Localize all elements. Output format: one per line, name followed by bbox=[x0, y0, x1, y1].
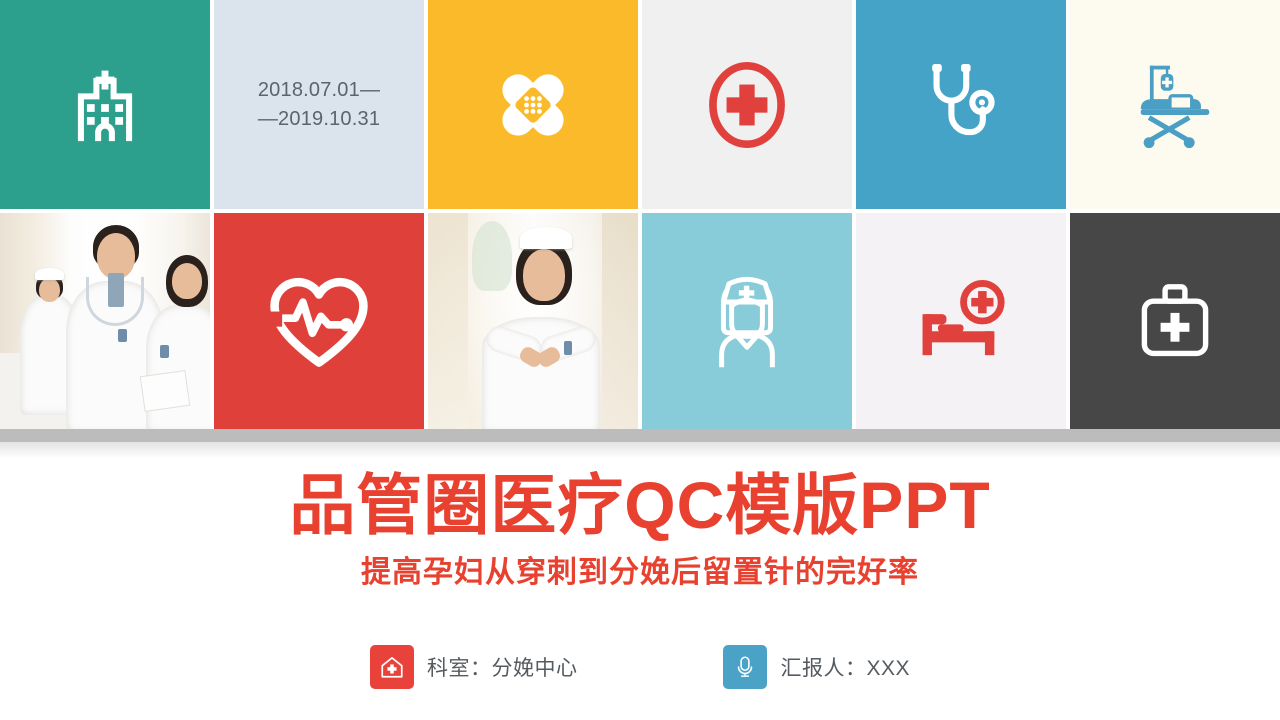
tile-hospital-building[interactable] bbox=[0, 0, 210, 209]
stethoscope-icon bbox=[917, 57, 1005, 153]
meta-department[interactable]: 科室：分娩中心 bbox=[370, 645, 578, 689]
department-label: 科室：分娩中心 bbox=[427, 652, 578, 682]
mosaic-shadow-bar bbox=[0, 429, 1280, 442]
tile-medical-kit[interactable] bbox=[1070, 213, 1280, 429]
meta-row: 科室：分娩中心 汇报人：XXX bbox=[0, 645, 1280, 689]
tile-row-1: 2018.07.01— —2019.10.31 bbox=[0, 0, 1280, 209]
doctors-photo-image bbox=[0, 213, 210, 429]
red-cross-circle-icon bbox=[704, 59, 790, 151]
presenter-label: 汇报人：XXX bbox=[780, 652, 910, 682]
tile-red-cross-circle[interactable] bbox=[642, 0, 852, 209]
tile-doctors-photo[interactable] bbox=[0, 213, 210, 429]
date-range-text: 2018.07.01— —2019.10.31 bbox=[258, 76, 380, 134]
hospital-gurney-icon bbox=[1129, 59, 1221, 151]
title-block: 品管圈医疗QC模版PPT 提高孕妇从穿刺到分娩后留置针的完好率 bbox=[0, 470, 1280, 591]
nurse-avatar-icon bbox=[701, 273, 793, 369]
tile-date-range[interactable]: 2018.07.01— —2019.10.31 bbox=[214, 0, 424, 209]
page-subtitle: 提高孕妇从穿刺到分娩后留置针的完好率 bbox=[0, 555, 1280, 591]
mosaic-shadow-fade bbox=[0, 442, 1280, 458]
tile-row-2 bbox=[0, 213, 1280, 429]
hospital-bed-icon bbox=[914, 278, 1008, 364]
bandage-icon bbox=[487, 59, 579, 151]
tile-hospital-bed[interactable] bbox=[856, 213, 1066, 429]
page-title: 品管圈医疗QC模版PPT bbox=[0, 470, 1280, 541]
hospital-icon bbox=[62, 62, 148, 148]
microphone-icon bbox=[723, 645, 767, 689]
medical-kit-icon bbox=[1130, 276, 1220, 366]
meta-presenter[interactable]: 汇报人：XXX bbox=[723, 645, 910, 689]
tile-bandage[interactable] bbox=[428, 0, 638, 209]
nurse-photo-image bbox=[428, 213, 638, 429]
tile-heartbeat[interactable] bbox=[214, 213, 424, 429]
clinic-house-icon bbox=[370, 645, 414, 689]
tile-stethoscope[interactable] bbox=[856, 0, 1066, 209]
heart-pulse-icon bbox=[267, 273, 371, 369]
tile-nurse-photo[interactable] bbox=[428, 213, 638, 429]
tile-nurse-avatar[interactable] bbox=[642, 213, 852, 429]
tile-gurney[interactable] bbox=[1070, 0, 1280, 209]
tile-mosaic: 2018.07.01— —2019.10.31 bbox=[0, 0, 1280, 429]
